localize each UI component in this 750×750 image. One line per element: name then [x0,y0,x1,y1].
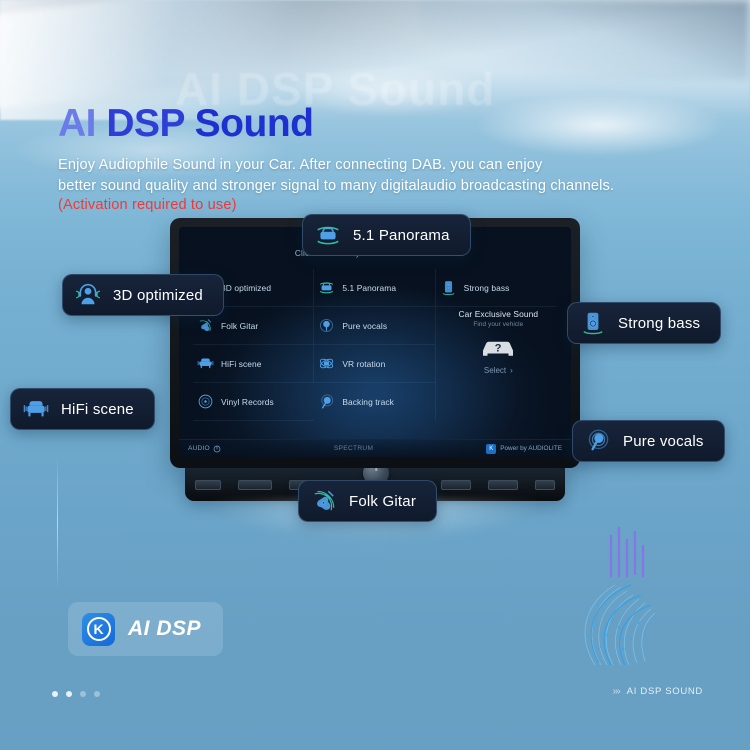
status-spectrum-label: SPECTRUM [221,445,486,452]
chevrons-right-icon: ››› [613,686,620,697]
port-camera [488,480,518,490]
callout-label: HiFi scene [61,401,134,418]
subwoofer-icon [580,310,606,336]
mic-wave-icon [318,394,335,411]
status-powered-by: K Power by AUDIOLITE [486,444,562,454]
title-part-sound: Sound [195,102,314,145]
pagination-dot-3[interactable] [80,691,86,697]
port-antenna [441,480,471,490]
microphone-icon [585,428,611,454]
chevron-right-icon: › [510,366,513,375]
kenwood-k-logo-icon: K [82,613,115,646]
fx-item-vinyl-records[interactable]: Vinyl Records [193,383,314,421]
fx-item-strong-bass[interactable]: Strong bass [436,269,557,307]
fx-label: 3D optimized [221,283,271,293]
port-aux [238,480,272,490]
activation-notice: (Activation required to use) [58,197,237,213]
subtitle-line-1: Enjoy Audiophile Sound in your Car. Afte… [58,155,698,176]
title-part-ai: AI [58,102,106,145]
armchair-icon [23,396,49,422]
callout-label: Pure vocals [623,433,704,450]
footer-label: AI DSP SOUND [627,686,703,697]
subwoofer-icon [440,279,457,296]
callout-label: 5.1 Panorama [353,227,450,244]
powered-by-label: Power by AUDIOLITE [500,445,562,452]
guitar-icon [197,317,214,334]
fx-label: HiFi scene [221,359,262,369]
fx-label: Folk Gitar [221,321,258,331]
callout-51-panorama[interactable]: 5.1 Panorama [302,214,471,256]
car-surround-icon [315,222,341,248]
callout-pure-vocals[interactable]: Pure vocals [572,420,725,462]
device-screen[interactable]: AI DSP Click to choose your favour sound… [179,227,571,457]
logo-letter: K [87,617,111,641]
car-question-icon: ? [480,333,516,359]
fx-label: VR rotation [342,359,385,369]
fx-label: Backing track [342,397,394,407]
screen-status-bar: AUDIO SPECTRUM K Power by AUDIOLITE [179,439,571,457]
page-subtitle: Enjoy Audiophile Sound in your Car. Afte… [58,155,698,197]
powered-badge-icon: K [486,444,496,454]
pagination-dot-4[interactable] [94,691,100,697]
footer-caption: ››› AI DSP SOUND [613,686,703,697]
fx-label: Strong bass [464,283,510,293]
status-audio-group[interactable]: AUDIO [188,445,221,453]
carousel-pagination[interactable] [52,691,100,697]
pagination-dot-1[interactable] [52,691,58,697]
vr-orbit-icon [318,355,335,372]
port-micro-usb [535,480,555,490]
microphone-icon [318,317,335,334]
page-title: AI DSP Sound [58,104,313,143]
vinyl-record-icon [197,393,214,410]
fx-item-hifi-scene[interactable]: HiFi scene [193,345,314,383]
car-surround-icon [318,279,335,296]
callout-label: 3D optimized [113,287,203,304]
fx-label: Pure vocals [342,321,387,331]
callout-strong-bass[interactable]: Strong bass [567,302,721,344]
svg-text:?: ? [495,342,502,354]
fx-item-backing-track[interactable]: Backing track [314,383,435,421]
fx-item-pure-vocals[interactable]: Pure vocals [314,307,435,345]
fx-label: Vinyl Records [221,397,274,407]
fx-item-51-panorama[interactable]: 5.1 Panorama [314,269,435,307]
armchair-icon [197,355,214,372]
car-exclusive-sound-panel[interactable]: Car Exclusive Sound Find your vehicle ? … [436,307,557,421]
headphones-person-icon [75,282,101,308]
status-audio-label: AUDIO [188,445,210,452]
fx-item-vr-rotation[interactable]: VR rotation [314,345,435,383]
callout-3d-optimized[interactable]: 3D optimized [62,274,224,316]
title-part-dsp: DSP [106,102,194,145]
port-usb-a [195,480,221,490]
pagination-dot-2[interactable] [66,691,72,697]
fx-label: 5.1 Panorama [342,283,396,293]
car-select-button[interactable]: Select › [484,366,513,375]
callout-label: Folk Gitar [349,493,416,510]
callout-hifi-scene[interactable]: HiFi scene [10,388,155,430]
guitar-icon [311,488,337,514]
car-select-label: Select [484,366,506,375]
callout-folk-gitar[interactable]: Folk Gitar [298,480,437,522]
subtitle-line-2: better sound quality and stronger signal… [58,176,698,197]
sound-effects-grid: 3D optimized 5.1 Panorama [193,269,557,421]
ai-dsp-brand-badge: K AI DSP [68,602,223,656]
car-panel-title: Car Exclusive Sound [459,309,539,319]
brand-badge-label: AI DSP [128,617,201,641]
power-icon [213,445,221,453]
guide-line [57,455,58,590]
callout-label: Strong bass [618,315,700,332]
car-panel-subtitle: Find your vehicle [473,321,523,328]
